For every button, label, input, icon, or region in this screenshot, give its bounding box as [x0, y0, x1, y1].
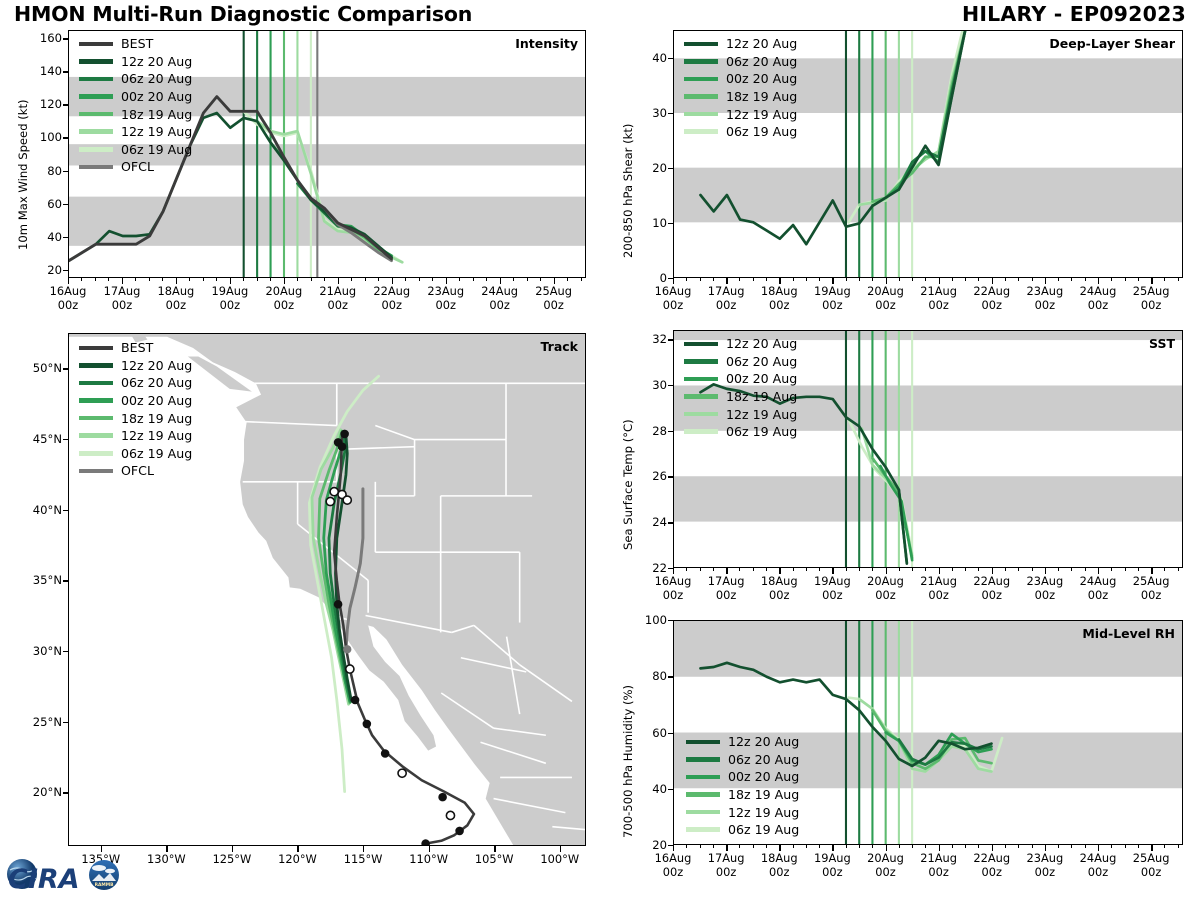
- x-minor-tick: [203, 278, 204, 281]
- x-minor-tick: [912, 568, 913, 571]
- x-tick-day: 21Aug: [920, 574, 957, 588]
- rh-title: Mid-Level RH: [1082, 626, 1175, 641]
- x-minor-tick: [793, 845, 794, 848]
- x-minor-tick: [1018, 845, 1019, 848]
- x-minor-tick: [859, 278, 860, 281]
- x-minor-tick: [1098, 278, 1099, 281]
- track-lat-tick-mark: [63, 722, 68, 723]
- x-tick-day: 18Aug: [158, 284, 195, 298]
- x-minor-tick: [779, 845, 780, 848]
- x-tick-hour: 00z: [1035, 588, 1055, 602]
- x-minor-tick: [1058, 568, 1059, 571]
- x-minor-tick: [713, 568, 714, 571]
- svg-text:RAMMB: RAMMB: [95, 882, 115, 888]
- y-tick-label: 40: [629, 51, 667, 65]
- legend-swatch-icon: [79, 416, 113, 421]
- legend-swatch-icon: [684, 77, 718, 82]
- x-tick-day: 16Aug: [655, 284, 692, 298]
- legend-swatch-icon: [79, 94, 113, 99]
- x-minor-tick: [365, 278, 366, 281]
- x-minor-tick: [899, 568, 900, 571]
- x-minor-tick: [686, 568, 687, 571]
- sst-legend: 12z 20 Aug06z 20 Aug00z 20 Aug18z 19 Aug…: [684, 335, 797, 441]
- y-tick-label: 22: [629, 561, 667, 575]
- x-tick-day: 21Aug: [920, 284, 957, 298]
- x-minor-tick: [1005, 845, 1006, 848]
- x-tick-day: 24Aug: [1080, 284, 1117, 298]
- y-tick-mark: [668, 476, 673, 477]
- legend-label: 18z 19 Aug: [121, 411, 192, 426]
- x-tick-hour: 00z: [769, 588, 789, 602]
- x-minor-tick: [1058, 845, 1059, 848]
- legend-item-12z-20-aug: 12z 20 Aug: [684, 35, 797, 53]
- track-lon-tick-label: 110°W: [395, 853, 463, 867]
- legend-swatch-icon: [79, 42, 113, 47]
- legend-item-12z-19-aug: 12z 19 Aug: [684, 405, 797, 423]
- x-minor-tick: [500, 278, 501, 281]
- legend-label: 18z 19 Aug: [121, 107, 192, 122]
- x-tick-hour: 00z: [928, 588, 948, 602]
- y-tick-mark: [63, 270, 68, 271]
- legend-label: 06z 19 Aug: [726, 424, 797, 439]
- legend-swatch-icon: [684, 42, 718, 47]
- x-minor-tick: [978, 845, 979, 848]
- track-lon-tick-label: 105°W: [460, 853, 528, 867]
- legend-swatch-icon: [684, 59, 718, 64]
- x-minor-tick: [459, 278, 460, 281]
- track-lon-tick-mark: [494, 846, 495, 852]
- y-tick-label: 28: [629, 424, 667, 438]
- x-minor-tick: [527, 278, 528, 281]
- legend-label: 12z 20 Aug: [121, 358, 192, 373]
- legend-label: 00z 20 Aug: [728, 769, 799, 784]
- legend-item-ofcl: OFCL: [79, 462, 192, 480]
- x-minor-tick: [149, 278, 150, 281]
- page-title-left: HMON Multi-Run Diagnostic Comparison: [14, 2, 472, 26]
- x-tick-day: 22Aug: [373, 284, 410, 298]
- legend-swatch-icon: [686, 740, 720, 745]
- x-minor-tick: [806, 278, 807, 281]
- x-minor-tick: [846, 278, 847, 281]
- y-tick-label: 140: [24, 64, 62, 78]
- y-tick-label: 20: [629, 838, 667, 852]
- x-tick-day: 22Aug: [973, 574, 1010, 588]
- x-minor-tick: [405, 278, 406, 281]
- y-tick-mark: [668, 431, 673, 432]
- x-tick-hour: 00z: [716, 865, 736, 879]
- y-tick-label: 26: [629, 469, 667, 483]
- shear-y-axis-label: 200-850 hPa Shear (kt): [621, 124, 635, 258]
- x-minor-tick: [819, 845, 820, 848]
- sst-panel: SST 12z 20 Aug06z 20 Aug00z 20 Aug18z 19…: [673, 330, 1183, 568]
- x-minor-tick: [1058, 278, 1059, 281]
- x-tick-day: 21Aug: [319, 284, 356, 298]
- rh-panel: Mid-Level RH 12z 20 Aug06z 20 Aug00z 20 …: [673, 620, 1183, 845]
- legend-item-12z-19-aug: 12z 19 Aug: [686, 803, 799, 821]
- track-lat-tick-mark: [63, 651, 68, 652]
- x-tick-hour: 00z: [112, 298, 132, 312]
- x-tick-hour: 00z: [435, 298, 455, 312]
- x-minor-tick: [311, 278, 312, 281]
- x-minor-tick: [567, 278, 568, 281]
- x-tick-day: 20Aug: [867, 284, 904, 298]
- y-tick-label: 30: [629, 378, 667, 392]
- x-minor-tick: [243, 278, 244, 281]
- track-lon-tick-mark: [429, 846, 430, 852]
- legend-item-12z-20-aug: 12z 20 Aug: [686, 733, 799, 751]
- y-tick-label: 40: [629, 782, 667, 796]
- x-minor-tick: [540, 278, 541, 281]
- legend-swatch-icon: [686, 827, 720, 832]
- x-tick-day: 23Aug: [1027, 574, 1064, 588]
- legend-swatch-icon: [684, 112, 718, 117]
- x-minor-tick: [486, 278, 487, 281]
- legend-swatch-icon: [686, 792, 720, 797]
- x-minor-tick: [793, 568, 794, 571]
- legend-label: 06z 20 Aug: [121, 375, 192, 390]
- x-minor-tick: [419, 278, 420, 281]
- x-minor-tick: [739, 845, 740, 848]
- y-tick-mark: [63, 204, 68, 205]
- x-minor-tick: [952, 278, 953, 281]
- track-legend: BEST12z 20 Aug06z 20 Aug00z 20 Aug18z 19…: [79, 339, 192, 480]
- legend-item-12z-20-aug: 12z 20 Aug: [79, 53, 192, 71]
- x-tick-day: 19Aug: [814, 284, 851, 298]
- x-minor-tick: [886, 278, 887, 281]
- shear-legend: 12z 20 Aug06z 20 Aug00z 20 Aug18z 19 Aug…: [684, 35, 797, 141]
- x-tick-day: 23Aug: [1027, 851, 1064, 865]
- x-tick-label: 25Aug00z: [1119, 575, 1183, 603]
- legend-item-06z-20-aug: 06z 20 Aug: [686, 751, 799, 769]
- x-minor-tick: [1005, 278, 1006, 281]
- x-minor-tick: [965, 278, 966, 281]
- x-minor-tick: [1045, 568, 1046, 571]
- x-minor-tick: [297, 278, 298, 281]
- cira-logo: CIRA RAMMB: [4, 848, 122, 898]
- legend-label: 12z 19 Aug: [121, 124, 192, 139]
- track-lat-tick-mark: [63, 580, 68, 581]
- x-minor-tick: [726, 278, 727, 281]
- legend-swatch-icon: [79, 147, 113, 152]
- y-tick-mark: [63, 71, 68, 72]
- x-minor-tick: [846, 568, 847, 571]
- x-tick-day: 17Aug: [708, 574, 745, 588]
- legend-label: 06z 19 Aug: [728, 822, 799, 837]
- x-minor-tick: [1032, 845, 1033, 848]
- intensity-legend: BEST12z 20 Aug06z 20 Aug00z 20 Aug18z 19…: [79, 35, 192, 176]
- track-lat-tick-mark: [63, 439, 68, 440]
- legend-swatch-icon: [684, 129, 718, 134]
- legend-item-18z-19-aug: 18z 19 Aug: [79, 409, 192, 427]
- legend-swatch-icon: [684, 359, 718, 364]
- legend-label: 12z 19 Aug: [121, 428, 192, 443]
- x-tick-day: 23Aug: [1027, 284, 1064, 298]
- x-minor-tick: [673, 278, 674, 281]
- x-minor-tick: [753, 568, 754, 571]
- track-lat-tick-mark: [63, 792, 68, 793]
- x-tick-day: 19Aug: [212, 284, 249, 298]
- x-tick-day: 17Aug: [104, 284, 141, 298]
- x-minor-tick: [1098, 845, 1099, 848]
- x-tick-day: 18Aug: [761, 574, 798, 588]
- x-minor-tick: [230, 278, 231, 281]
- intensity-panel: Intensity BEST12z 20 Aug06z 20 Aug00z 20…: [68, 30, 586, 278]
- x-minor-tick: [135, 278, 136, 281]
- x-tick-hour: 00z: [1088, 298, 1108, 312]
- legend-label: 12z 20 Aug: [728, 734, 799, 749]
- x-minor-tick: [1071, 845, 1072, 848]
- y-tick-mark: [668, 339, 673, 340]
- x-minor-tick: [1045, 845, 1046, 848]
- x-minor-tick: [1045, 278, 1046, 281]
- x-tick-hour: 00z: [716, 298, 736, 312]
- legend-label: 06z 20 Aug: [121, 71, 192, 86]
- legend-swatch-icon: [79, 346, 113, 351]
- svg-text:CIRA: CIRA: [8, 864, 80, 895]
- x-tick-hour: 00z: [382, 298, 402, 312]
- x-minor-tick: [257, 278, 258, 281]
- x-minor-tick: [965, 845, 966, 848]
- x-minor-tick: [925, 845, 926, 848]
- y-tick-label: 100: [629, 613, 667, 627]
- track-lon-tick-label: 125°W: [198, 853, 266, 867]
- x-tick-label: 25Aug00z: [522, 285, 586, 313]
- track-lat-tick-mark: [63, 510, 68, 511]
- x-minor-tick: [446, 278, 447, 281]
- x-minor-tick: [686, 845, 687, 848]
- x-minor-tick: [726, 568, 727, 571]
- intensity-title: Intensity: [515, 36, 578, 51]
- x-minor-tick: [1125, 278, 1126, 281]
- x-tick-hour: 00z: [769, 298, 789, 312]
- legend-item-06z-19-aug: 06z 19 Aug: [684, 423, 797, 441]
- legend-label: 18z 19 Aug: [728, 787, 799, 802]
- legend-swatch-icon: [686, 810, 720, 815]
- x-tick-day: 19Aug: [814, 851, 851, 865]
- legend-item-12z-20-aug: 12z 20 Aug: [79, 357, 192, 375]
- x-tick-hour: 00z: [663, 298, 683, 312]
- x-tick-day: 17Aug: [708, 284, 745, 298]
- x-minor-tick: [886, 568, 887, 571]
- x-minor-tick: [216, 278, 217, 281]
- legend-label: 12z 20 Aug: [726, 336, 797, 351]
- y-tick-mark: [668, 168, 673, 169]
- x-minor-tick: [1178, 568, 1179, 571]
- y-tick-label: 0: [629, 271, 667, 285]
- y-tick-mark: [63, 171, 68, 172]
- x-tick-hour: 00z: [716, 588, 736, 602]
- x-minor-tick: [899, 278, 900, 281]
- x-tick-label: 25Aug00z: [1119, 852, 1183, 880]
- x-minor-tick: [473, 278, 474, 281]
- x-minor-tick: [819, 278, 820, 281]
- x-tick-day: 25Aug: [1133, 851, 1170, 865]
- legend-swatch-icon: [79, 363, 113, 368]
- legend-swatch-icon: [684, 342, 718, 347]
- x-minor-tick: [673, 845, 674, 848]
- legend-label: 00z 20 Aug: [726, 371, 797, 386]
- x-tick-hour: 00z: [982, 588, 1002, 602]
- x-minor-tick: [1098, 568, 1099, 571]
- x-minor-tick: [978, 278, 979, 281]
- x-minor-tick: [324, 278, 325, 281]
- rh-y-axis-label: 700-500 hPa Humidity (%): [621, 685, 635, 838]
- x-minor-tick: [739, 568, 740, 571]
- track-lon-tick-label: 115°W: [329, 853, 397, 867]
- x-minor-tick: [925, 278, 926, 281]
- x-tick-hour: 00z: [663, 588, 683, 602]
- legend-item-06z-20-aug: 06z 20 Aug: [684, 53, 797, 71]
- x-tick-hour: 00z: [1088, 588, 1108, 602]
- x-minor-tick: [1178, 278, 1179, 281]
- x-minor-tick: [1032, 568, 1033, 571]
- x-tick-hour: 00z: [1141, 298, 1161, 312]
- x-minor-tick: [832, 568, 833, 571]
- y-tick-label: 20: [629, 161, 667, 175]
- legend-item-18z-19-aug: 18z 19 Aug: [684, 388, 797, 406]
- x-tick-hour: 00z: [543, 298, 563, 312]
- y-tick-label: 60: [629, 726, 667, 740]
- x-minor-tick: [793, 278, 794, 281]
- x-minor-tick: [1164, 568, 1165, 571]
- track-lat-tick-label: 35°N: [6, 573, 62, 587]
- x-tick-day: 22Aug: [973, 284, 1010, 298]
- track-lat-tick-label: 20°N: [6, 785, 62, 799]
- legend-label: 06z 19 Aug: [121, 142, 192, 157]
- legend-swatch-icon: [684, 377, 718, 382]
- legend-label: 18z 19 Aug: [726, 389, 797, 404]
- y-tick-label: 10: [629, 216, 667, 230]
- x-tick-day: 16Aug: [655, 574, 692, 588]
- y-tick-label: 32: [629, 332, 667, 346]
- x-minor-tick: [1071, 568, 1072, 571]
- x-minor-tick: [912, 278, 913, 281]
- track-lat-tick-label: 25°N: [6, 715, 62, 729]
- x-minor-tick: [832, 845, 833, 848]
- legend-label: 18z 19 Aug: [726, 89, 797, 104]
- x-tick-day: 23Aug: [427, 284, 464, 298]
- x-minor-tick: [176, 278, 177, 281]
- legend-item-00z-20-aug: 00z 20 Aug: [79, 392, 192, 410]
- x-minor-tick: [992, 278, 993, 281]
- x-minor-tick: [1018, 568, 1019, 571]
- x-minor-tick: [351, 278, 352, 281]
- y-tick-mark: [63, 104, 68, 105]
- x-minor-tick: [978, 568, 979, 571]
- y-tick-label: 60: [24, 197, 62, 211]
- x-minor-tick: [1178, 845, 1179, 848]
- legend-swatch-icon: [79, 433, 113, 438]
- x-tick-hour: 00z: [1035, 865, 1055, 879]
- x-minor-tick: [739, 278, 740, 281]
- x-minor-tick: [270, 278, 271, 281]
- x-tick-day: 24Aug: [1080, 574, 1117, 588]
- x-minor-tick: [899, 845, 900, 848]
- x-tick-hour: 00z: [1035, 298, 1055, 312]
- x-tick-hour: 00z: [1088, 865, 1108, 879]
- legend-swatch-icon: [79, 59, 113, 64]
- x-minor-tick: [95, 278, 96, 281]
- track-lat-tick-mark: [63, 368, 68, 369]
- legend-label: 06z 19 Aug: [726, 124, 797, 139]
- legend-item-06z-19-aug: 06z 19 Aug: [684, 123, 797, 141]
- x-minor-tick: [392, 278, 393, 281]
- x-tick-hour: 00z: [982, 865, 1002, 879]
- legend-label: 12z 19 Aug: [728, 805, 799, 820]
- x-minor-tick: [939, 845, 940, 848]
- shear-title: Deep-Layer Shear: [1049, 36, 1175, 51]
- x-tick-day: 25Aug: [1133, 574, 1170, 588]
- x-minor-tick: [713, 278, 714, 281]
- x-minor-tick: [952, 568, 953, 571]
- x-tick-hour: 00z: [220, 298, 240, 312]
- x-tick-day: 25Aug: [1133, 284, 1170, 298]
- y-tick-mark: [668, 113, 673, 114]
- legend-item-06z-19-aug: 06z 19 Aug: [686, 821, 799, 839]
- track-lon-tick-mark: [232, 846, 233, 852]
- x-minor-tick: [686, 278, 687, 281]
- y-tick-label: 20: [24, 263, 62, 277]
- legend-item-best: BEST: [79, 35, 192, 53]
- x-minor-tick: [284, 278, 285, 281]
- x-minor-tick: [1071, 278, 1072, 281]
- legend-swatch-icon: [79, 129, 113, 134]
- x-minor-tick: [1138, 568, 1139, 571]
- x-minor-tick: [700, 845, 701, 848]
- y-tick-label: 80: [629, 669, 667, 683]
- x-minor-tick: [1018, 278, 1019, 281]
- legend-item-06z-19-aug: 06z 19 Aug: [79, 445, 192, 463]
- x-minor-tick: [872, 845, 873, 848]
- x-minor-tick: [939, 278, 940, 281]
- x-minor-tick: [554, 278, 555, 281]
- x-tick-hour: 00z: [822, 298, 842, 312]
- y-tick-label: 120: [24, 97, 62, 111]
- x-minor-tick: [859, 845, 860, 848]
- legend-label: 06z 20 Aug: [726, 54, 797, 69]
- x-minor-tick: [432, 278, 433, 281]
- legend-item-best: BEST: [79, 339, 192, 357]
- x-minor-tick: [872, 278, 873, 281]
- x-tick-hour: 00z: [928, 298, 948, 312]
- x-tick-day: 16Aug: [50, 284, 87, 298]
- x-minor-tick: [939, 568, 940, 571]
- legend-swatch-icon: [79, 112, 113, 117]
- x-tick-hour: 00z: [328, 298, 348, 312]
- page-title-right: HILARY - EP092023: [962, 2, 1186, 26]
- x-minor-tick: [108, 278, 109, 281]
- x-tick-day: 22Aug: [973, 851, 1010, 865]
- x-minor-tick: [766, 845, 767, 848]
- x-minor-tick: [513, 278, 514, 281]
- x-minor-tick: [581, 278, 582, 281]
- track-lon-tick-label: 130°W: [132, 853, 200, 867]
- x-minor-tick: [189, 278, 190, 281]
- legend-swatch-icon: [684, 429, 718, 434]
- legend-label: 12z 19 Aug: [726, 107, 797, 122]
- legend-label: 00z 20 Aug: [121, 89, 192, 104]
- x-minor-tick: [806, 568, 807, 571]
- x-minor-tick: [81, 278, 82, 281]
- x-minor-tick: [886, 845, 887, 848]
- x-tick-hour: 00z: [1141, 865, 1161, 879]
- x-minor-tick: [1085, 568, 1086, 571]
- legend-label: 06z 20 Aug: [726, 354, 797, 369]
- track-lon-tick-label: 120°W: [263, 853, 331, 867]
- legend-label: 00z 20 Aug: [726, 71, 797, 86]
- x-minor-tick: [832, 278, 833, 281]
- x-minor-tick: [952, 845, 953, 848]
